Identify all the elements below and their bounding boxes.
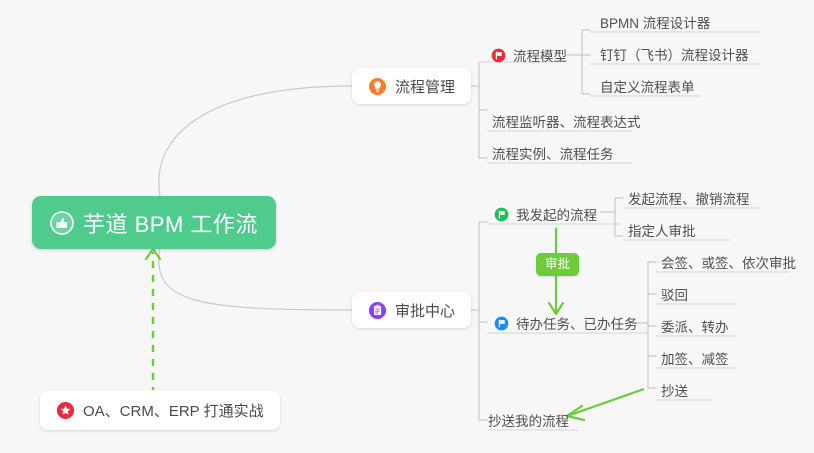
star-red-icon [56,401,75,420]
footnote-arrow-head [146,249,160,259]
node-label: 流程模型 [513,45,567,65]
link-root-to-approval-center [159,248,352,310]
footnote-arrow-group [146,249,160,394]
branch-label: 审批中心 [395,300,455,321]
node-assignee-approval[interactable]: 指定人审批 [628,220,696,240]
node-my-initiated[interactable]: 我发起的流程 [494,203,597,225]
flag-blue-icon [494,316,509,331]
root-label: 芋道 BPM 工作流 [83,207,258,239]
flag-green-icon [494,207,509,222]
cc-arrow-line [570,389,644,415]
mindmap-canvas: 芋道 BPM 工作流 流程管理 流程模型 BPMN 流程设计器 钉钉（飞书）流程 [0,0,814,453]
branch-node-process-management[interactable]: 流程管理 [352,68,471,104]
link-ac-bracket [479,222,487,420]
lightbulb-icon [368,77,387,96]
node-label: 我发起的流程 [516,204,597,224]
approval-badge-label: 审批 [545,257,570,271]
branch-label: 流程管理 [395,76,455,97]
node-reject[interactable]: 驳回 [661,284,688,304]
node-cc[interactable]: 抄送 [661,380,688,400]
node-label: 待办任务、已办任务 [516,313,638,333]
node-delegate-transfer[interactable]: 委派、转办 [661,316,729,336]
link-mine-bracket [615,198,623,236]
node-label: 委派、转办 [661,316,729,336]
node-label: 指定人审批 [628,220,696,240]
cc-arrow-head [567,406,584,420]
node-label: 会签、或签、依次审批 [661,252,796,272]
flag-red-icon [491,48,506,63]
link-pm-bracket [479,62,487,158]
node-custom-form[interactable]: 自定义流程表单 [600,76,695,96]
node-dingtalk-designer[interactable]: 钉钉（飞书）流程设计器 [600,44,749,64]
node-instance-task[interactable]: 流程实例、流程任务 [492,143,614,163]
node-label: 流程监听器、流程表达式 [492,111,641,131]
node-label: 钉钉（飞书）流程设计器 [600,44,749,64]
cc-arrow-group [567,389,644,420]
node-label: 加签、减签 [661,348,729,368]
node-bpmn-designer[interactable]: BPMN 流程设计器 [600,12,710,32]
node-multi-sign[interactable]: 会签、或签、依次审批 [661,252,796,272]
footnote-node[interactable]: OA、CRM、ERP 打通实战 [40,390,280,430]
node-label: 流程实例、流程任务 [492,143,614,163]
node-start-cancel[interactable]: 发起流程、撤销流程 [628,188,750,208]
node-label: 抄送我的流程 [488,410,569,430]
branch-node-approval-center[interactable]: 审批中心 [352,292,471,328]
node-listener-expression[interactable]: 流程监听器、流程表达式 [492,111,641,131]
node-add-remove-sign[interactable]: 加签、减签 [661,348,729,368]
link-todo-bracket [648,262,656,388]
node-process-model[interactable]: 流程模型 [491,44,567,66]
node-label: 抄送 [661,380,688,400]
approval-badge: 审批 [536,253,579,276]
node-label: BPMN 流程设计器 [600,12,710,32]
thumbs-up-icon [50,211,74,235]
clipboard-purple-icon [368,301,387,320]
node-label: 驳回 [661,284,688,304]
node-label: 发起流程、撤销流程 [628,188,750,208]
node-todo-done[interactable]: 待办任务、已办任务 [494,312,638,334]
node-label: 自定义流程表单 [600,76,695,96]
root-node[interactable]: 芋道 BPM 工作流 [32,196,276,249]
link-pmodel-bracket [582,30,590,94]
link-root-to-process-management [159,86,352,196]
footnote-label: OA、CRM、ERP 打通实战 [83,400,264,421]
node-cc-to-me[interactable]: 抄送我的流程 [488,410,569,430]
